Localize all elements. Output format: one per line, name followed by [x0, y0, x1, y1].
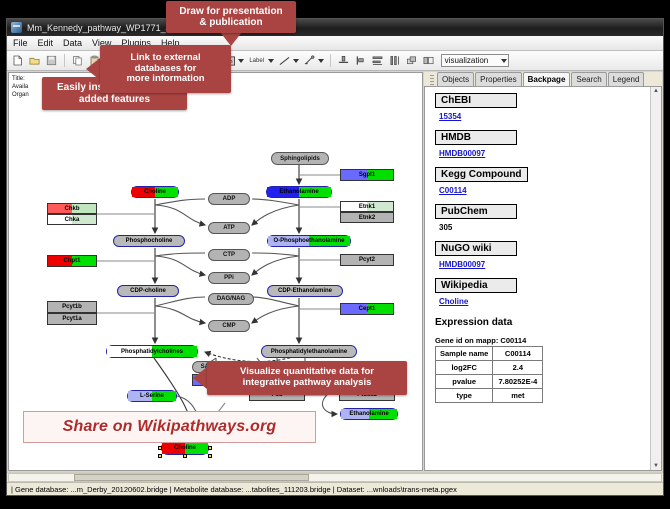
- expression-data-header: Expression data: [435, 317, 642, 328]
- scroll-down-icon[interactable]: ▼: [653, 462, 659, 470]
- scroll-up-icon[interactable]: ▲: [653, 87, 659, 95]
- db-header-chebi: ChEBI: [435, 93, 517, 108]
- align-top-icon[interactable]: [337, 54, 350, 67]
- node-gene-chka[interactable]: Chka: [47, 214, 97, 225]
- node-phosphatidylethanolamine[interactable]: Phosphatidylethanolamine: [261, 345, 357, 358]
- label-tool-icon[interactable]: Label: [248, 54, 266, 67]
- menu-item-data[interactable]: Data: [62, 38, 83, 48]
- node-sphingolipids[interactable]: Sphingolipids: [271, 152, 329, 165]
- db-header-pubchem: PubChem: [435, 204, 517, 219]
- title-bar: Mm_Kennedy_pathway_WP1771_45176.gpml: [7, 19, 663, 36]
- db-section-kegg: Kegg Compound C00114: [435, 167, 642, 204]
- save-icon[interactable]: [45, 54, 58, 67]
- node-label: Ethanolamine: [279, 189, 318, 195]
- resize-handle[interactable]: [158, 446, 162, 450]
- visualization-combobox[interactable]: visualization: [441, 54, 509, 67]
- line-tool-icon[interactable]: [278, 54, 291, 67]
- db-section-pubchem: PubChem 305: [435, 204, 642, 241]
- expr-key-type: type: [436, 389, 493, 403]
- distribute-horizontal-icon[interactable]: [388, 54, 401, 67]
- anchor-chevron-down-icon[interactable]: [318, 59, 324, 63]
- status-bar: | Gene database: ...m_Derby_20120602.bri…: [7, 482, 663, 495]
- toolbar-separator: [64, 54, 65, 67]
- align-left-icon[interactable]: [354, 54, 367, 67]
- main-split: Title: Availa Organ: [7, 71, 663, 472]
- node-label: Chpt1: [64, 258, 81, 264]
- node-gene-pcyt1b[interactable]: Pcyt1b: [47, 301, 97, 313]
- node-label: CDP-Ethanolamine: [278, 288, 332, 294]
- status-bar-text: | Gene database: ...m_Derby_20120602.bri…: [11, 485, 457, 494]
- db-link-chebi[interactable]: 15354: [439, 112, 461, 121]
- tab-backpage[interactable]: Backpage: [523, 72, 571, 86]
- tab-objects[interactable]: Objects: [437, 72, 474, 86]
- side-panel-scrollbar[interactable]: ▲ ▼: [650, 87, 661, 470]
- node-o-phosphoethanolamine[interactable]: O-Phosphoethanolamine: [267, 235, 351, 247]
- callout-link-text: Link to external databases for more info…: [126, 53, 204, 86]
- backpage-body: ChEBI 15354 HMDB HMDB00097 Kegg Compound…: [424, 86, 662, 471]
- node-l-serine-left[interactable]: L-Serine: [127, 390, 177, 402]
- callout-visualize-text: Visualize quantitative data for integrat…: [240, 367, 374, 389]
- expr-val-sample-name: C00114: [493, 347, 543, 361]
- app-icon: [11, 22, 22, 33]
- visualization-value: visualization: [445, 56, 489, 65]
- backpage-content: ChEBI 15354 HMDB HMDB00097 Kegg Compound…: [425, 87, 650, 470]
- node-label: Sphingolipids: [280, 156, 320, 162]
- node-ethanolamine-1[interactable]: Ethanolamine: [266, 186, 332, 198]
- db-link-nugo[interactable]: HMDB00097: [439, 260, 485, 269]
- node-gene-chkb[interactable]: Chkb: [47, 203, 97, 214]
- node-label: Sgpl1: [359, 172, 375, 178]
- resize-handle[interactable]: [158, 454, 162, 458]
- node-gene-pcyt2[interactable]: Pcyt2: [340, 254, 394, 266]
- send-to-back-icon[interactable]: [422, 54, 435, 67]
- node-ctp[interactable]: CTP: [208, 249, 250, 261]
- share-banner: Share on Wikipathways.org: [23, 411, 316, 443]
- callout-draw-text: Draw for presentation & publication: [179, 6, 282, 29]
- line-chevron-down-icon[interactable]: [293, 59, 299, 63]
- db-header-nugo: NuGO wiki: [435, 241, 517, 256]
- callout-link: Link to external databases for more info…: [100, 45, 231, 93]
- distribute-vertical-icon[interactable]: [371, 54, 384, 67]
- gene-id-line: Gene id on mapp: C00114: [435, 336, 642, 345]
- table-row: Sample name C00114: [436, 347, 543, 361]
- node-choline-top[interactable]: Choline: [131, 186, 179, 198]
- node-dag-nag[interactable]: DAG/NAG: [208, 293, 254, 305]
- tab-properties[interactable]: Properties: [475, 72, 521, 86]
- node-label: Cept1: [359, 306, 376, 312]
- node-label: Ethanolamine: [349, 411, 388, 417]
- node-label: PPi: [224, 275, 234, 281]
- db-section-nugo: NuGO wiki HMDB00097: [435, 241, 642, 278]
- expr-val-log2fc: 2.4: [493, 361, 543, 375]
- db-link-hmdb[interactable]: HMDB00097: [439, 149, 485, 158]
- label-chevron-down-icon[interactable]: [268, 59, 274, 63]
- db-value-pubchem: 305: [439, 223, 452, 232]
- node-label: Chka: [65, 217, 80, 223]
- db-header-hmdb: HMDB: [435, 130, 517, 145]
- copy-icon[interactable]: [71, 54, 84, 67]
- visualization-chevron-down-icon[interactable]: [501, 59, 507, 63]
- expr-val-type: met: [493, 389, 543, 403]
- node-cmp[interactable]: CMP: [208, 320, 250, 332]
- datanode-chevron-down-icon[interactable]: [238, 59, 244, 63]
- db-section-wikipedia: Wikipedia Choline: [435, 278, 642, 315]
- node-label: Phosphatidylcholines: [121, 349, 183, 355]
- db-header-kegg: Kegg Compound: [435, 167, 528, 182]
- node-label: CMP: [222, 323, 235, 329]
- callout-visualize-arrow-icon: [193, 367, 207, 389]
- menu-item-file[interactable]: File: [12, 38, 29, 48]
- expr-key-pvalue: pvalue: [436, 375, 493, 389]
- table-row: type met: [436, 389, 543, 403]
- canvas-hscrollbar[interactable]: [7, 472, 663, 482]
- resize-handle[interactable]: [208, 446, 212, 450]
- node-gene-etnk2[interactable]: Etnk2: [340, 212, 394, 223]
- node-label: L-Serine: [140, 393, 164, 399]
- bring-to-front-icon[interactable]: [405, 54, 418, 67]
- node-label: Phosphocholine: [126, 238, 173, 244]
- db-link-kegg[interactable]: C00114: [439, 186, 467, 195]
- node-label: O-Phosphoethanolamine: [273, 238, 344, 244]
- tab-search[interactable]: Search: [571, 72, 606, 86]
- node-label: ATP: [223, 225, 235, 231]
- panel-grip-icon[interactable]: [430, 75, 434, 86]
- node-label: Chkb: [65, 206, 80, 212]
- node-cdp-choline[interactable]: CDP-choline: [117, 285, 179, 297]
- db-section-hmdb: HMDB HMDB00097: [435, 130, 642, 167]
- hscroll-track[interactable]: [8, 473, 662, 482]
- node-label: DAG/NAG: [217, 296, 245, 302]
- expr-val-pvalue: 7.80252E-4: [493, 375, 543, 389]
- label-tool-text: Label: [249, 58, 264, 64]
- db-link-wikipedia[interactable]: Choline: [439, 297, 468, 306]
- node-gene-cept1[interactable]: Cept1: [340, 303, 394, 315]
- resize-handle[interactable]: [183, 454, 187, 458]
- table-row: pvalue 7.80252E-4: [436, 375, 543, 389]
- callout-draw: Draw for presentation & publication: [166, 1, 296, 33]
- expr-key-sample-name: Sample name: [436, 347, 493, 361]
- expression-table: Sample name C00114 log2FC 2.4 pvalue 7.8…: [435, 346, 543, 403]
- node-gene-pcyt1a[interactable]: Pcyt1a: [47, 313, 97, 325]
- node-ppi[interactable]: PPi: [208, 272, 250, 284]
- toolbar-separator-3: [330, 54, 331, 67]
- node-gene-chpt1[interactable]: Chpt1: [47, 255, 97, 267]
- new-file-icon[interactable]: [11, 54, 24, 67]
- node-label: Etnk2: [359, 215, 375, 221]
- db-header-wikipedia: Wikipedia: [435, 278, 517, 293]
- pathvisio-window: Mm_Kennedy_pathway_WP1771_45176.gpml Fil…: [6, 18, 664, 496]
- node-gene-etnk1[interactable]: Etnk1: [340, 201, 394, 212]
- node-label: Choline: [144, 189, 166, 195]
- node-choline-selected[interactable]: Choline: [161, 441, 209, 455]
- hscroll-thumb[interactable]: [74, 474, 309, 481]
- anchor-tool-icon[interactable]: [303, 54, 316, 67]
- side-panel: Objects Properties Backpage Search Legen…: [424, 72, 662, 471]
- callout-draw-arrow-icon: [220, 32, 242, 46]
- node-label: Etnk1: [359, 204, 375, 210]
- node-gene-sgpl1[interactable]: Sgpl1: [340, 169, 394, 181]
- share-banner-text: Share on Wikipathways.org: [63, 418, 277, 436]
- table-row: log2FC 2.4: [436, 361, 543, 375]
- expr-key-log2fc: log2FC: [436, 361, 493, 375]
- callout-visualize: Visualize quantitative data for integrat…: [207, 361, 407, 395]
- open-folder-icon[interactable]: [28, 54, 41, 67]
- node-atp[interactable]: ATP: [208, 222, 250, 234]
- node-label: CDP-choline: [130, 288, 166, 294]
- node-label: Pcyt2: [359, 257, 375, 263]
- node-label: ADP: [223, 196, 236, 202]
- pathway-canvas[interactable]: Title: Availa Organ: [8, 72, 423, 471]
- node-phosphatidylcholines[interactable]: Phosphatidylcholines: [106, 345, 198, 358]
- node-ethanolamine-2[interactable]: Ethanolamine: [340, 408, 398, 420]
- node-cdp-ethanolamine[interactable]: CDP-Ethanolamine: [267, 285, 343, 297]
- node-label: CTP: [223, 252, 235, 258]
- resize-handle[interactable]: [208, 454, 212, 458]
- node-phosphocholine[interactable]: Phosphocholine: [113, 235, 185, 247]
- node-label: Pcyt1b: [62, 304, 82, 310]
- db-section-chebi: ChEBI 15354: [435, 93, 642, 130]
- node-label: Phosphatidylethanolamine: [271, 349, 347, 355]
- node-label: Pcyt1a: [62, 316, 81, 322]
- node-label: Choline: [174, 445, 196, 451]
- tab-legend[interactable]: Legend: [608, 72, 645, 86]
- node-adp[interactable]: ADP: [208, 193, 250, 205]
- side-panel-tabs: Objects Properties Backpage Search Legen…: [424, 72, 662, 86]
- menu-item-edit[interactable]: Edit: [37, 38, 55, 48]
